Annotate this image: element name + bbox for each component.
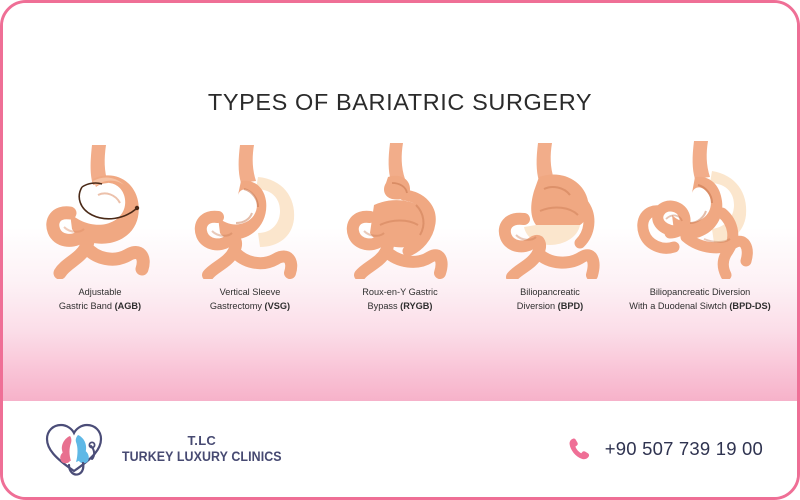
- stomach-biliopancreatic-diversion-illustration: [480, 139, 620, 279]
- caption-line-1: Vertical Sleeve: [220, 287, 281, 297]
- stomach-with-adjustable-band-illustration: [30, 139, 170, 279]
- caption-line-2: With a Duodenal Siwtch: [629, 301, 729, 311]
- procedure-adjustable-gastric-band: Adjustable Gastric Band (AGB): [25, 139, 175, 313]
- contact-block[interactable]: +90 507 739 19 00: [567, 436, 763, 462]
- caption-line-2: Bypass: [367, 301, 400, 311]
- brand-full-name: TURKEY LUXURY CLINICS: [122, 449, 282, 465]
- caption-line-2: Diversion: [517, 301, 558, 311]
- caption-abbr: (VSG): [265, 301, 291, 311]
- brand-text: T.LC TURKEY LUXURY CLINICS: [115, 433, 289, 464]
- procedure-roux-en-y-gastric-bypass: Roux-en-Y Gastric Bypass (RYGB): [325, 139, 475, 313]
- caption-abbr: (RYGB): [400, 301, 432, 311]
- procedure-caption: Biliopancreatic Diversion (BPD): [517, 285, 583, 313]
- caption-line-1: Roux-en-Y Gastric: [362, 287, 437, 297]
- phone-icon: [567, 436, 593, 462]
- caption-abbr: (BPD-DS): [729, 301, 770, 311]
- footer-bar: T.LC TURKEY LUXURY CLINICS +90 507 739 1…: [3, 401, 797, 497]
- procedures-row: Adjustable Gastric Band (AGB): [25, 139, 775, 313]
- brand-abbreviation: T.LC: [187, 433, 216, 448]
- caption-line-1: Biliopancreatic: [520, 287, 580, 297]
- caption-abbr: (AGB): [115, 301, 142, 311]
- procedure-biliopancreatic-diversion-duodenal-switch: Biliopancreatic Diversion With a Duodena…: [625, 139, 775, 313]
- procedure-biliopancreatic-diversion: Biliopancreatic Diversion (BPD): [475, 139, 625, 313]
- heart-stethoscope-logo-icon: [43, 420, 105, 478]
- stomach-sleeve-gastrectomy-illustration: [180, 139, 320, 279]
- caption-line-2: Gastrectomy: [210, 301, 265, 311]
- procedure-caption: Adjustable Gastric Band (AGB): [59, 285, 141, 313]
- stomach-roux-en-y-bypass-illustration: [330, 139, 470, 279]
- procedure-vertical-sleeve-gastrectomy: Vertical Sleeve Gastrectomy (VSG): [175, 139, 325, 313]
- phone-number[interactable]: +90 507 739 19 00: [605, 438, 763, 460]
- poster-frame: TYPES OF BARIATRIC SURGERY: [0, 0, 800, 500]
- caption-line-2: Gastric Band: [59, 301, 115, 311]
- procedure-caption: Roux-en-Y Gastric Bypass (RYGB): [362, 285, 437, 313]
- procedure-caption: Vertical Sleeve Gastrectomy (VSG): [210, 285, 290, 313]
- caption-abbr: (BPD): [558, 301, 584, 311]
- brand-lockup[interactable]: T.LC TURKEY LUXURY CLINICS: [43, 420, 289, 478]
- caption-line-1: Adjustable: [79, 287, 122, 297]
- caption-line-1: Biliopancreatic Diversion: [650, 287, 751, 297]
- page-title: TYPES OF BARIATRIC SURGERY: [3, 89, 797, 116]
- stomach-duodenal-switch-illustration: [630, 139, 770, 279]
- procedure-caption: Biliopancreatic Diversion With a Duodena…: [629, 285, 770, 313]
